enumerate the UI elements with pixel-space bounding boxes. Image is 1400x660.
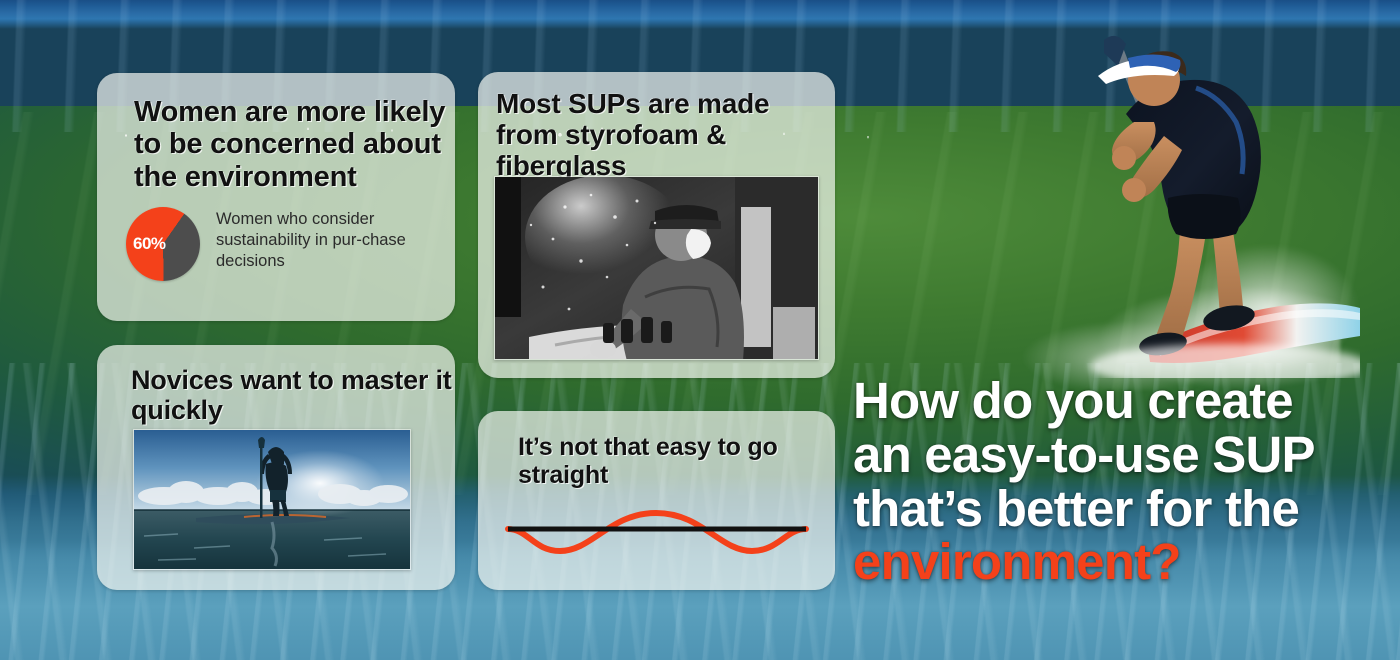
headline-line-4-accent: environment? [853, 535, 1373, 589]
card-sup-title: Most SUPs are made from styrofoam & fibe… [478, 72, 835, 182]
pie-value-label: 60% [133, 234, 166, 254]
pie-caption: Women who consider sustainability in pur… [216, 209, 421, 271]
wetsuit-shorts [1168, 194, 1241, 239]
pie-chart-row: 60% Women who consider sustainability in… [97, 193, 455, 281]
paddleboarder-illustration [1030, 18, 1360, 378]
lower-hand [1122, 178, 1146, 202]
headline-line-3: that’s better for the [853, 482, 1373, 536]
card-sup-materials[interactable]: Most SUPs are made from styrofoam & fibe… [478, 72, 835, 378]
card-go-straight[interactable]: It’s not that easy to go straight [478, 411, 835, 590]
paddler-sunrise-illustration [134, 430, 411, 570]
card-straight-title: It’s not that easy to go straight [478, 411, 835, 490]
upper-hand [1112, 146, 1136, 170]
wobbly-path-line [508, 513, 806, 551]
wobble-diagram-svg [500, 505, 815, 567]
photo-surfboard-shaper [494, 176, 819, 360]
card-novices-title: Novices want to master it quickly [97, 345, 455, 425]
headline-line-1: How do you create [853, 374, 1373, 428]
infographic-canvas: Women are more likely to be concerned ab… [0, 0, 1400, 660]
headline-line-2: an easy-to-use SUP [853, 428, 1373, 482]
headline-question: How do you create an easy-to-use SUP tha… [853, 374, 1373, 589]
card-novices[interactable]: Novices want to master it quickly [97, 345, 455, 590]
paddleboarder-figure [1030, 18, 1360, 378]
card-women-environment[interactable]: Women are more likely to be concerned ab… [97, 73, 455, 321]
pie-chart-sustainability: 60% [126, 207, 200, 281]
wobble-vs-straight-diagram [500, 505, 815, 567]
photo-woman-paddleboarding [133, 429, 411, 570]
shaper-bw-illustration [495, 177, 819, 360]
card-women-title: Women are more likely to be concerned ab… [97, 73, 455, 193]
